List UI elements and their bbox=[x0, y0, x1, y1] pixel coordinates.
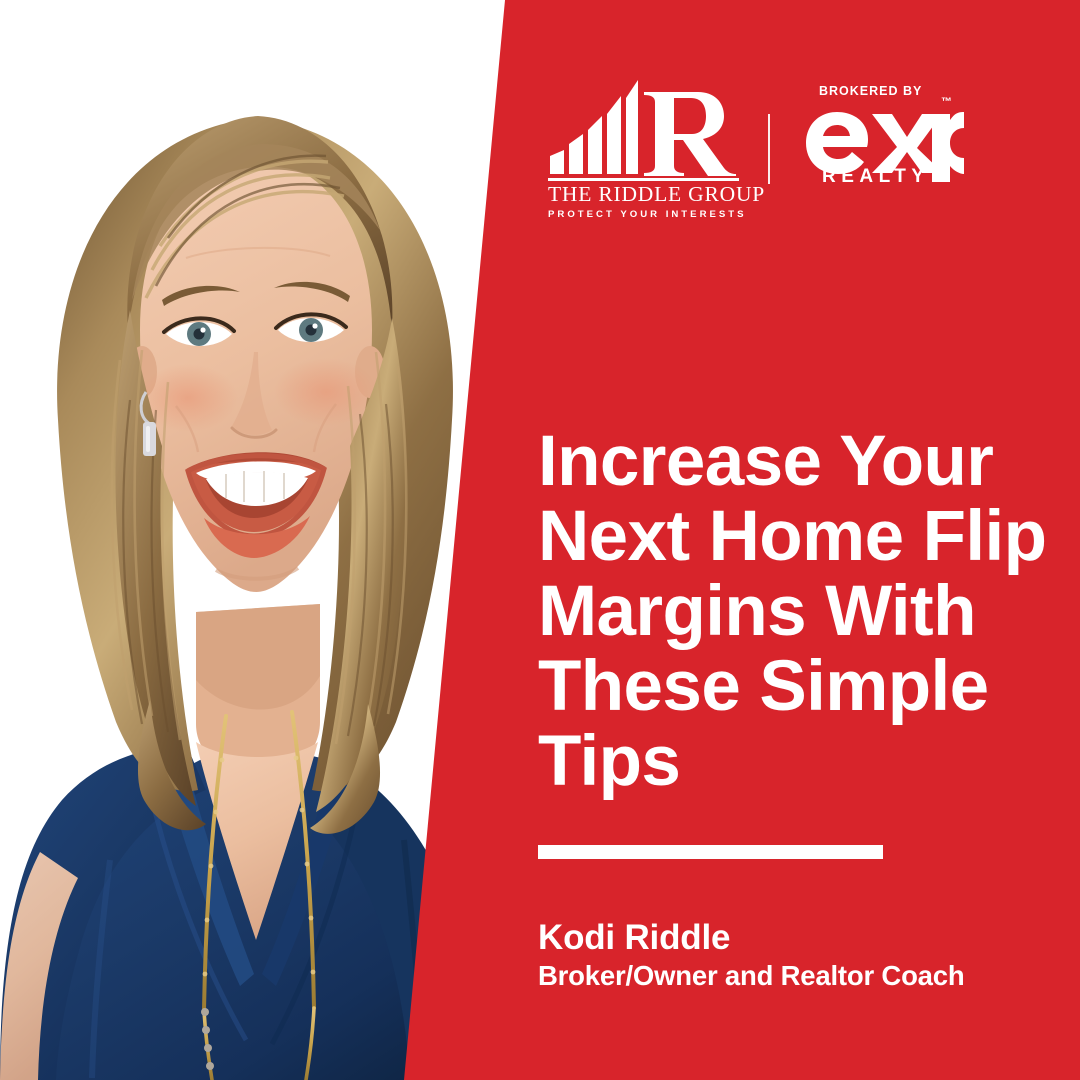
riddle-group-tagline: PROTECT YOUR INTERESTS bbox=[548, 209, 739, 220]
presenter-name: Kodi Riddle bbox=[538, 918, 1058, 958]
headline: Increase Your Next Home Flip Margins Wit… bbox=[538, 424, 1068, 799]
presenter-title: Broker/Owner and Realtor Coach bbox=[538, 959, 1058, 993]
promo-graphic: THE RIDDLE GROUP PROTECT YOUR INTERESTS … bbox=[0, 0, 1080, 1080]
rr-monogram-skyline-icon bbox=[548, 78, 744, 176]
logo-lockup: THE RIDDLE GROUP PROTECT YOUR INTERESTS … bbox=[548, 78, 964, 210]
riddle-group-name: THE RIDDLE GROUP bbox=[548, 183, 739, 206]
riddle-group-logo: THE RIDDLE GROUP PROTECT YOUR INTERESTS bbox=[548, 78, 744, 220]
logo-rule bbox=[548, 178, 739, 181]
exp-realty-label: REALTY bbox=[822, 166, 930, 188]
exp-trademark-icon: ™ bbox=[941, 96, 952, 108]
logo-divider bbox=[768, 114, 770, 184]
presenter-block: Kodi Riddle Broker/Owner and Realtor Coa… bbox=[538, 918, 1058, 993]
exp-realty-logo: BROKERED BY ™ REALTY bbox=[796, 78, 964, 198]
divider-bar bbox=[538, 845, 883, 859]
